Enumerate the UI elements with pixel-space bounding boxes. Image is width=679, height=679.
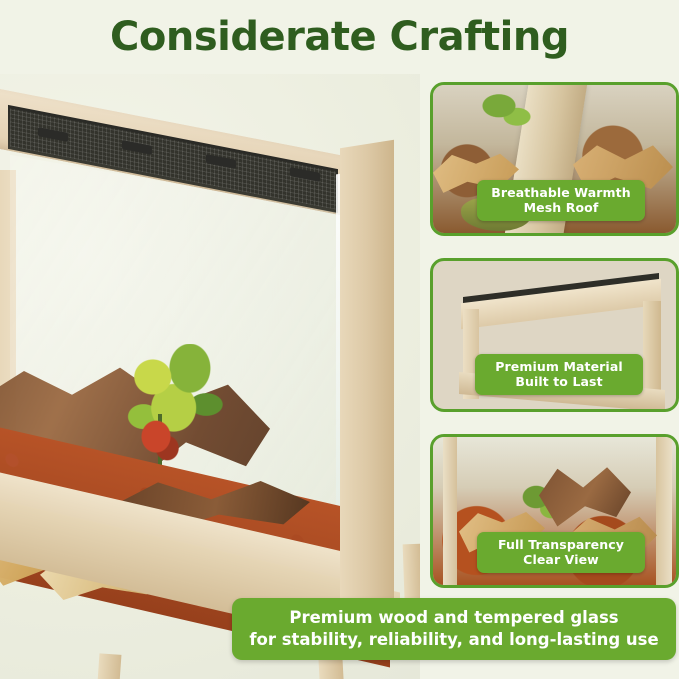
bottom-caption-line-1: Premium wood and tempered glass [249, 607, 658, 629]
page-title: Considerate Crafting [0, 14, 679, 60]
card-caption-premium-material: Premium Material Built to Last [475, 354, 643, 395]
card-caption-full-transparency: Full Transparency Clear View [477, 532, 645, 573]
caption-line-2: Mesh Roof [485, 200, 637, 215]
reptile-terrarium-main-photo [0, 74, 420, 679]
promo-graphic: Considerate Crafting [0, 0, 679, 679]
card-premium-material: Premium Material Built to Last [430, 258, 679, 412]
caption-line-1: Breathable Warmth [485, 185, 637, 200]
caption-line-2: Clear View [485, 552, 637, 567]
card-breathable-warmth: Breathable Warmth Mesh Roof [430, 82, 679, 236]
bottom-caption-bar: Premium wood and tempered glass for stab… [232, 598, 676, 660]
bottom-caption-line-2: for stability, reliability, and long-las… [249, 629, 658, 651]
card-full-transparency: Full Transparency Clear View [430, 434, 679, 588]
caption-line-2: Built to Last [483, 374, 635, 389]
wood-post-right [643, 301, 661, 401]
caption-line-1: Premium Material [483, 359, 635, 374]
caption-line-1: Full Transparency [485, 537, 637, 552]
artificial-plant-red [140, 419, 180, 463]
wood-post-left [443, 437, 457, 585]
card-caption-breathable-warmth: Breathable Warmth Mesh Roof [477, 180, 645, 221]
wood-post-right [656, 437, 672, 585]
wood-post-right [340, 140, 394, 619]
artificial-plant [475, 89, 535, 131]
